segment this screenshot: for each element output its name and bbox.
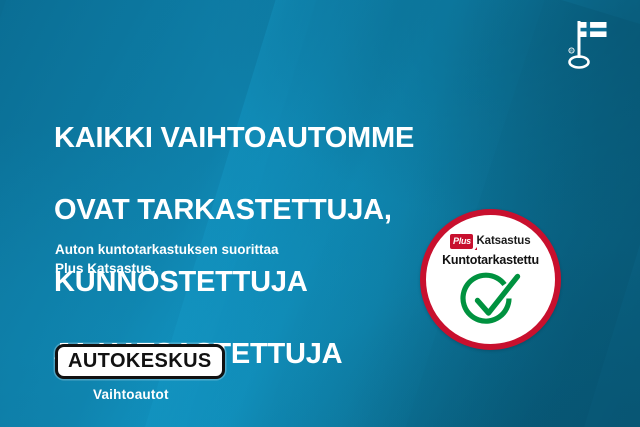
- autokeskus-brand-label: AUTOKESKUS: [68, 350, 212, 372]
- avainlippu-key-flag-icon: R: [565, 17, 611, 69]
- subheading-line-1: Auton kuntotarkastuksen suorittaa: [55, 240, 385, 259]
- plus-logo-mark: Plus: [450, 234, 473, 249]
- headline-line-1: KAIKKI VAIHTOAUTOMME: [54, 120, 514, 156]
- subheading: Auton kuntotarkastuksen suorittaa Plus K…: [55, 240, 385, 278]
- kuntotarkastettu-badge: Plus Katsastus Kuntotarkastettu: [420, 209, 561, 350]
- autokeskus-logo-block: AUTOKESKUS Vaihtoautot: [55, 344, 270, 402]
- autokeskus-logo-plate: AUTOKESKUS: [55, 344, 225, 379]
- green-check-circle-icon: [460, 271, 522, 329]
- katsastus-brand-label: Katsastus: [476, 234, 530, 249]
- badge-content: Plus Katsastus Kuntotarkastettu: [426, 215, 555, 344]
- plus-katsastus-logo: Plus Katsastus: [450, 234, 530, 249]
- badge-title: Kuntotarkastettu: [442, 253, 539, 267]
- autokeskus-tagline: Vaihtoautot: [93, 387, 270, 402]
- promo-banner: R KAIKKI VAIHTOAUTOMME OVAT TARKASTETTUJ…: [0, 0, 640, 427]
- plus-swoosh-icon: [468, 242, 477, 250]
- subheading-line-2: Plus Katsastus.: [55, 259, 385, 278]
